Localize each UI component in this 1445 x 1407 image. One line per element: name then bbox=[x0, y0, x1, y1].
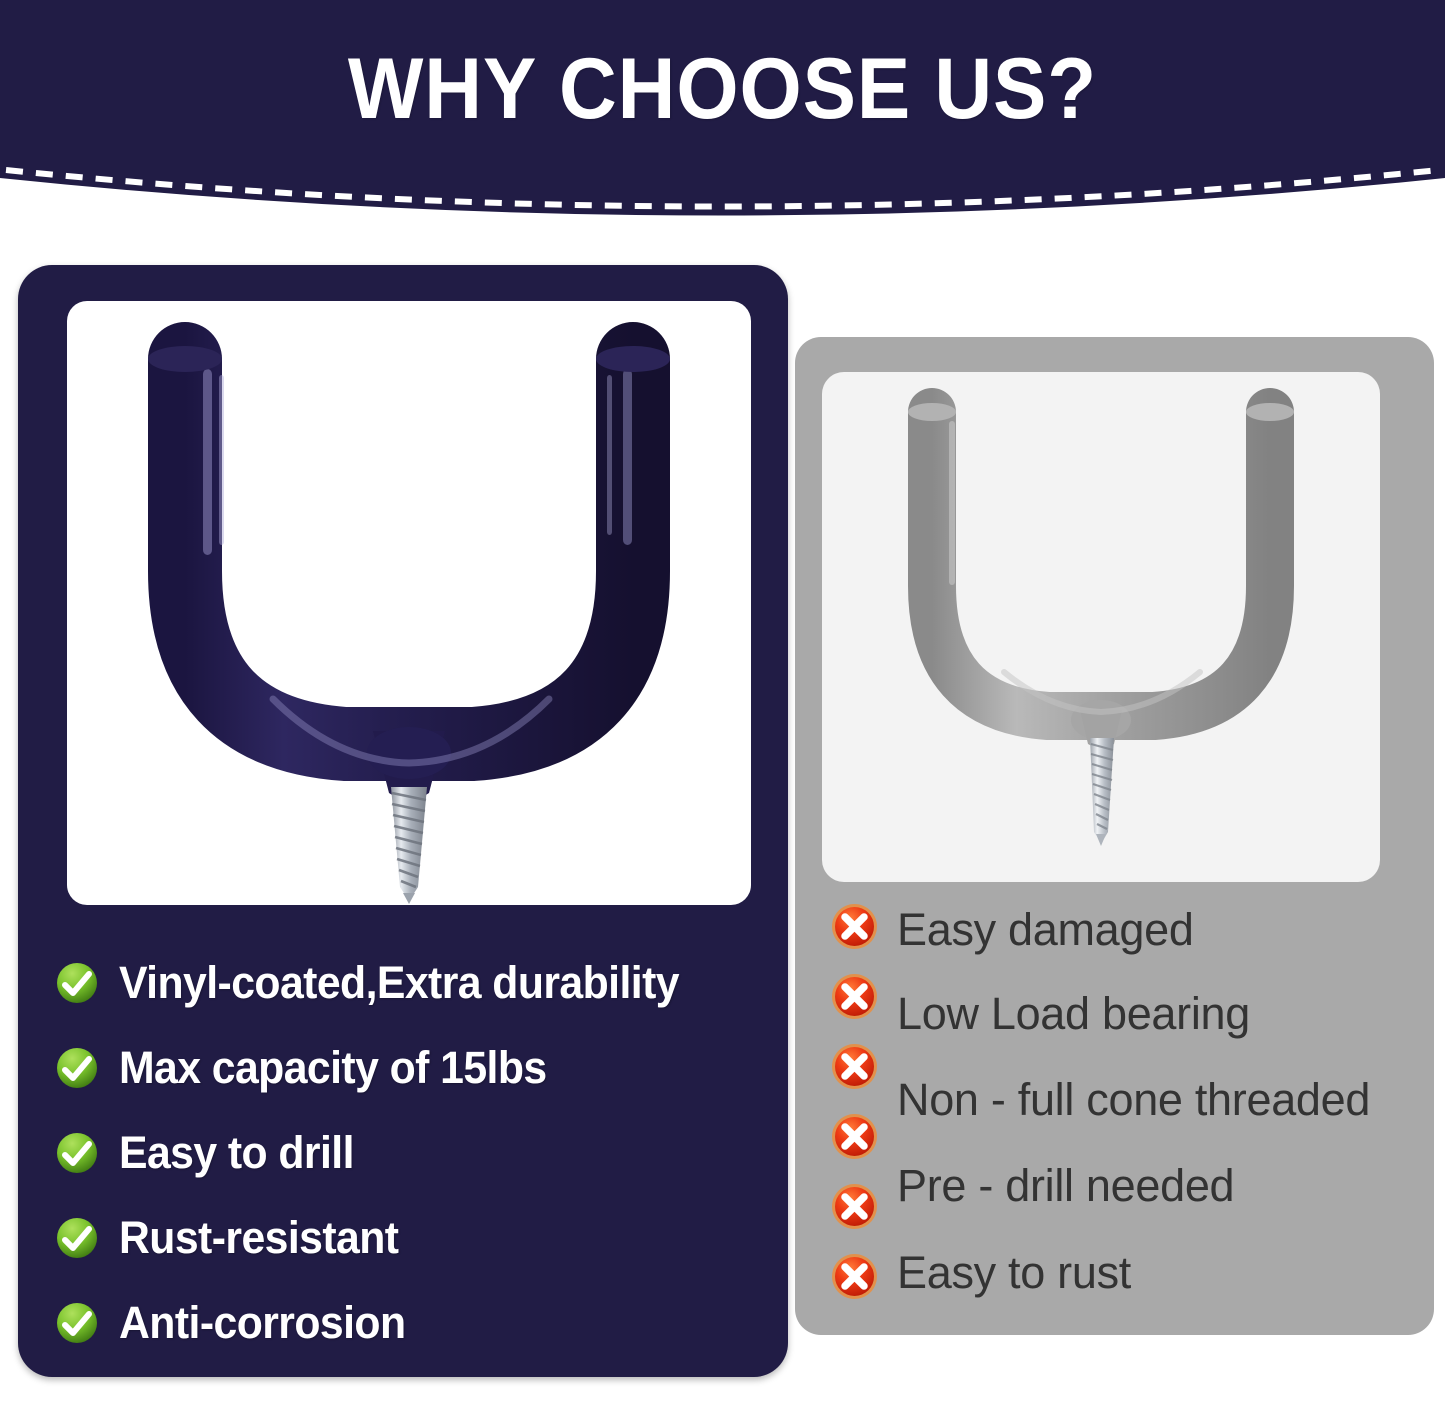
list-item: Max capacity of 15lbs bbox=[55, 1040, 785, 1125]
x-circle-icon bbox=[831, 1113, 878, 1160]
bad-product-photo bbox=[822, 372, 1380, 882]
navy-hook-illustration bbox=[67, 301, 751, 905]
gray-hook-illustration bbox=[822, 372, 1380, 882]
x-circle-icon bbox=[831, 1183, 878, 1230]
list-item-label: Easy to rust bbox=[897, 1250, 1131, 1295]
x-circle-icon bbox=[831, 1253, 878, 1300]
list-item-label: Low Load bearing bbox=[897, 991, 1250, 1036]
check-circle-icon bbox=[55, 1216, 99, 1260]
check-circle-icon bbox=[55, 1301, 99, 1345]
list-item-label: Easy damaged bbox=[897, 907, 1194, 952]
list-item: Easy to drill bbox=[55, 1125, 785, 1210]
good-feature-list: Vinyl-coated,Extra durability Max capaci… bbox=[55, 955, 785, 1380]
list-item-label: Pre - drill needed bbox=[897, 1163, 1234, 1208]
list-item-label: Vinyl-coated,Extra durability bbox=[119, 957, 679, 1009]
list-item: Anti-corrosion bbox=[55, 1295, 785, 1380]
list-item-label: Anti-corrosion bbox=[119, 1297, 406, 1349]
list-item-label: Easy to drill bbox=[119, 1127, 354, 1179]
list-item-label: Non - full cone threaded bbox=[897, 1077, 1370, 1122]
check-circle-icon bbox=[55, 1046, 99, 1090]
list-item-label: Max capacity of 15lbs bbox=[119, 1042, 547, 1094]
page-title: WHY CHOOSE US? bbox=[51, 46, 1395, 132]
list-item: Vinyl-coated,Extra durability bbox=[55, 955, 785, 1040]
check-circle-icon bbox=[55, 961, 99, 1005]
x-circle-icon bbox=[831, 903, 878, 950]
good-product-photo bbox=[67, 301, 751, 905]
x-circle-icon bbox=[831, 1043, 878, 1090]
list-item: Rust-resistant bbox=[55, 1210, 785, 1295]
check-circle-icon bbox=[55, 1131, 99, 1175]
list-item-label: Rust-resistant bbox=[119, 1212, 398, 1264]
x-circle-icon bbox=[831, 973, 878, 1020]
header-banner: WHY CHOOSE US? bbox=[0, 0, 1445, 240]
